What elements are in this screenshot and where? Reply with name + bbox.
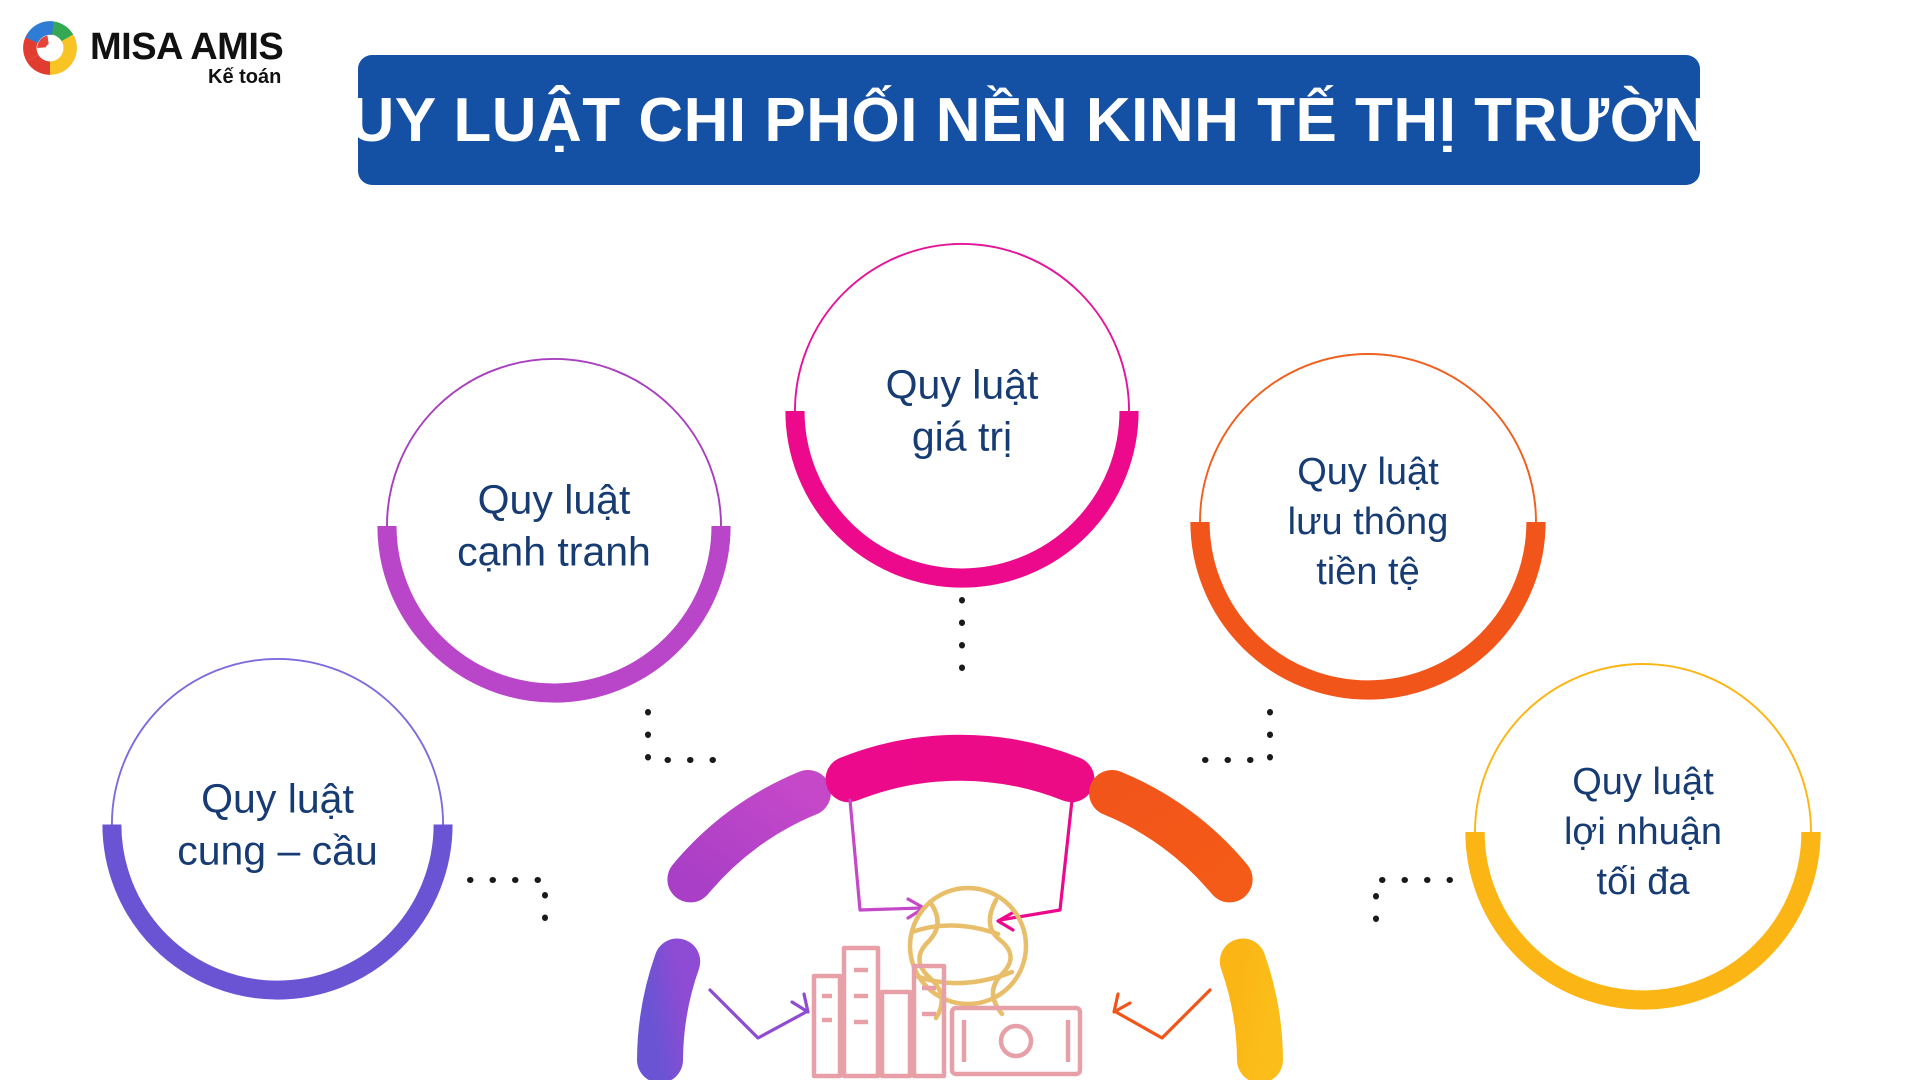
connector-cung-cau [470,880,545,940]
misa-pinwheel-icon [18,16,82,80]
banknote-icon [952,1008,1080,1074]
bubble-line-3: tiền tệ [1228,547,1508,597]
globe-icon [910,888,1026,1018]
bubble-label-canh-tranh: Quy luật cạnh tranh [415,474,693,579]
bubble-line-1: Quy luật [1503,757,1783,807]
gauge-segment-luu-thong [1112,793,1230,879]
city-buildings-icon [814,948,944,1076]
global-economy-icon [800,880,1120,1080]
bubble-line-2: cung – cầu [140,825,416,877]
brand-logo: MISA AMIS Kế toán [18,12,318,90]
bubble-line-1: Quy luật [1228,447,1508,497]
bubble-label-luu-thong: Quy luật lưu thông tiền tệ [1228,447,1508,597]
bubble-line-1: Quy luật [823,359,1101,411]
bubble-line-2: giá trị [823,411,1101,463]
bubble-line-2: lưu thông [1228,497,1508,547]
bubble-label-cung-cau: Quy luật cung – cầu [140,772,416,877]
brand-subtitle: Kế toán [208,66,281,89]
gauge-arrow-1 [710,990,806,1038]
bubble-line-1: Quy luật [140,772,416,824]
brand-wordmark: MISA AMIS [90,26,283,69]
bubble-gia-tri[interactable]: Quy luật giá trị [788,237,1136,585]
gauge-segment-loi-nhuan [1243,962,1260,1061]
gauge-segment-gia-tri [849,758,1072,779]
bubble-line-2: lợi nhuận [1503,807,1783,857]
bubble-loi-nhuan-toi-da[interactable]: Quy luật lợi nhuận tối đa [1468,657,1818,1007]
page-title: QUY LUẬT CHI PHỐI NỀN KINH TẾ THỊ TRƯỜNG [301,85,1757,156]
title-banner: QUY LUẬT CHI PHỐI NỀN KINH TẾ THỊ TRƯỜNG [358,55,1700,185]
gauge-segment-canh-tranh [690,793,808,879]
bubble-line-3: tối đa [1503,857,1783,907]
bubble-label-loi-nhuan: Quy luật lợi nhuận tối đa [1503,757,1783,907]
connector-loi-nhuan [1376,880,1450,940]
gauge-arrow-4 [1116,990,1210,1038]
bubble-luu-thong-tien-te[interactable]: Quy luật lưu thông tiền tệ [1193,347,1543,697]
bubble-line-2: cạnh tranh [415,526,693,578]
bubble-label-gia-tri: Quy luật giá trị [823,359,1101,464]
bubble-line-1: Quy luật [415,474,693,526]
infographic-canvas: MISA AMIS Kế toán QUY LUẬT CHI PHỐI NỀN … [0,0,1920,1080]
bubble-cung-cau[interactable]: Quy luật cung – cầu [105,652,450,997]
bubble-canh-tranh[interactable]: Quy luật cạnh tranh [380,352,728,700]
gauge-segment-cung-cau [660,962,677,1061]
